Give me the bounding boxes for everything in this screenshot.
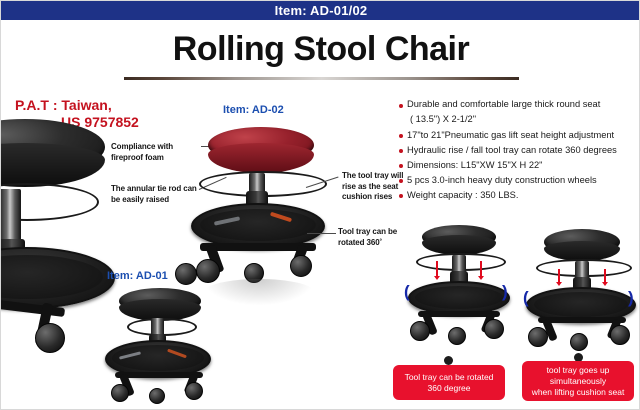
demo1-arc-right: ) [502, 283, 508, 300]
demo2-arc-right: ) [628, 289, 634, 306]
demo2-arrow-head-right [602, 282, 608, 286]
feature-text: Durable and comfortable large thick roun… [407, 99, 600, 111]
bullet-icon [399, 134, 403, 138]
demo2-arrow-shaft-left [558, 269, 560, 283]
item-label-ad01: Item: AD-01 [107, 270, 168, 282]
demo1-caster-2 [484, 319, 504, 339]
demo2-arrow-shaft-right [604, 269, 606, 283]
ad02-caster-2 [290, 255, 312, 277]
bullet-icon [399, 149, 403, 153]
bullet-icon [399, 194, 403, 198]
feature-subline: ( 13.5") X 2-1/2" [410, 114, 639, 126]
feature-item: 5 pcs 3.0-inch heavy duty construction w… [399, 175, 639, 187]
demo1-arrow-head-right [478, 276, 484, 280]
caption-pointer-dot-left [444, 356, 453, 365]
closeup-caster-2 [35, 323, 65, 353]
feature-text: Hydraulic rise / fall tool tray can rota… [407, 145, 617, 157]
demo1-caster-1 [410, 321, 430, 341]
ad02-caster-1 [196, 259, 220, 283]
closeup-seat-side [0, 143, 105, 187]
header-banner: Item: AD-01/02 [1, 1, 640, 20]
page-title: Rolling Stool Chair [1, 28, 640, 70]
caption-rotate-360: Tool tray can be rotated 360 degree [393, 365, 505, 400]
feature-item: Dimensions: L15"XW 15"X H 22" [399, 160, 639, 172]
feature-text: 5 pcs 3.0-inch heavy duty construction w… [407, 175, 597, 187]
bullet-icon [399, 179, 403, 183]
demo1-arc-left: ( [404, 283, 410, 300]
feature-text: Weight capacity : 350 LBS. [407, 190, 518, 202]
feature-text: 17"to 21"Pneumatic gas lift seat height … [407, 130, 614, 142]
caption-lift-line-3: when lifting cushion seat [532, 387, 625, 397]
ad01-caster-1 [111, 384, 129, 402]
caption-lift-line-1: tool tray goes up [547, 365, 610, 375]
feature-item: Hydraulic rise / fall tool tray can rota… [399, 145, 639, 157]
demo1-arrow-head-left [434, 276, 440, 280]
leader-line-tray-rotate [307, 233, 336, 234]
feature-list: Durable and comfortable large thick roun… [399, 99, 639, 205]
product-info-sheet: Item: AD-01/02 Rolling Stool Chair P.A.T… [0, 0, 640, 410]
demo2-caster-2 [610, 325, 630, 345]
ad02-seat-side [208, 143, 314, 173]
demo2-tray-inner [534, 292, 628, 317]
demo2-arc-left: ( [523, 289, 529, 306]
demo1-seat-side [422, 235, 496, 255]
stool-demo-lift-image: ( ) [526, 225, 638, 357]
header-item-code: Item: AD-01/02 [275, 3, 368, 18]
stool-ad01-image [105, 288, 231, 410]
demo1-tray-inner [415, 286, 503, 309]
caption-tray-lift: tool tray goes up simultaneously when li… [522, 361, 634, 401]
demo1-arrow-shaft-right [480, 261, 482, 277]
bullet-icon [399, 104, 403, 108]
caption-rotate-line-1: Tool tray can be rotated [405, 372, 494, 382]
stool-ad02-image [186, 127, 336, 287]
caption-rotate-line-2: 360 degree [427, 383, 470, 393]
ad01-caster-3 [149, 388, 165, 404]
bullet-icon [399, 164, 403, 168]
feature-item: 17"to 21"Pneumatic gas lift seat height … [399, 130, 639, 142]
feature-item: Weight capacity : 350 LBS. [399, 190, 639, 202]
ad01-caster-2 [185, 382, 203, 400]
detached-caster-top [175, 263, 197, 285]
item-label-ad02: Item: AD-02 [223, 104, 284, 116]
feature-text: Dimensions: L15"XW 15"X H 22" [407, 160, 542, 172]
stool-demo-rotate-image: ( ) [406, 225, 512, 355]
caption-lift-line-2: simultaneously [550, 376, 606, 386]
demo1-arrow-shaft-left [436, 261, 438, 277]
demo2-arrow-head-left [556, 282, 562, 286]
feature-item: Durable and comfortable large thick roun… [399, 99, 639, 111]
demo2-caster-3 [570, 333, 588, 351]
demo1-caster-3 [448, 327, 466, 345]
patent-line-1: P.A.T : Taiwan, [15, 97, 112, 113]
demo2-caster-1 [528, 327, 548, 347]
demo2-seat-side [544, 241, 620, 261]
title-divider [124, 77, 519, 80]
